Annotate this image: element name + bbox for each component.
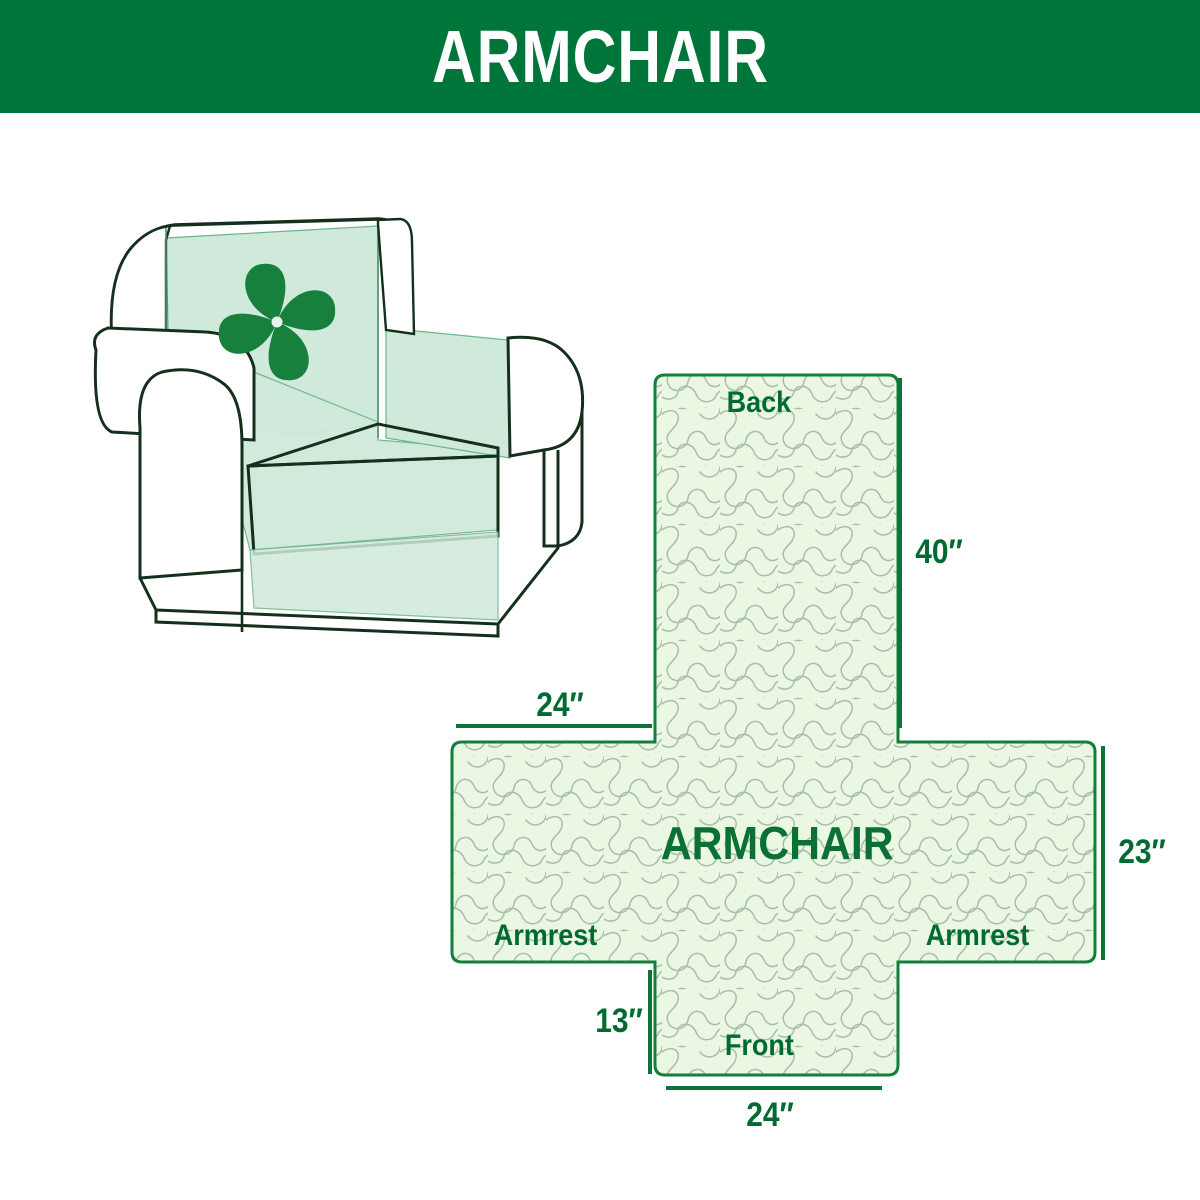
dimension-label-seat-height: 23″: [1118, 835, 1166, 869]
panel-label-armrest-left: Armrest: [494, 921, 598, 951]
chair-backrest-right-wing: [378, 219, 414, 334]
chair-left-armrest-bolster: [139, 370, 242, 578]
panel-label-armrest-right: Armrest: [926, 921, 1030, 951]
panel-label-back: Back: [727, 388, 792, 418]
dimension-label-front-width: 24″: [746, 1098, 794, 1132]
dimension-label-armrest-width: 24″: [536, 688, 584, 722]
diagram-center-label: ARMCHAIR: [661, 820, 894, 866]
dimension-label-back-height: 40″: [915, 535, 963, 569]
cross-dimension-diagram: Back Armrest Armrest Front ARMCHAIR 40″ …: [430, 350, 1190, 1140]
panel-label-front: Front: [725, 1031, 794, 1061]
dimension-label-front-height: 13″: [595, 1004, 643, 1038]
page-title: ARMCHAIR: [432, 20, 769, 94]
header-banner: ARMCHAIR: [0, 0, 1200, 113]
page-root: ARMCHAIR: [0, 0, 1200, 1200]
